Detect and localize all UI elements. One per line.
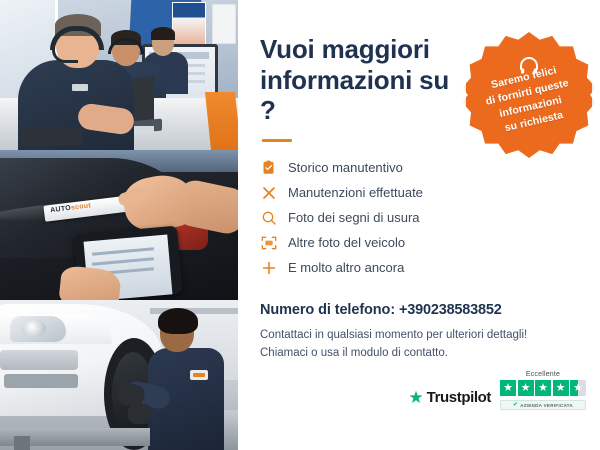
page-title: Vuoi maggiori informazioni su ? — [260, 34, 470, 126]
phone-label: Numero di telefono: — [260, 302, 399, 318]
list-item: Altre foto del veicolo — [260, 230, 580, 255]
phone-number[interactable]: +390238583852 — [399, 302, 502, 318]
content-panel: Vuoi maggiori informazioni su ? Storico … — [238, 0, 600, 450]
trustpilot-widget[interactable]: ★ Trustpilot Eccellente ★ ★ ★ ★ ★ ✔ AZIE… — [408, 371, 586, 410]
star-rating: ★ ★ ★ ★ ★ — [500, 380, 586, 396]
list-item: E molto altro ancora — [260, 255, 580, 280]
photo-wheel-inspection — [0, 300, 238, 450]
rating-label: Eccellente — [526, 371, 560, 378]
trustpilot-brand: Trustpilot — [427, 389, 491, 406]
check-circle-icon: ✔ — [513, 402, 518, 408]
scan-photo-icon — [260, 234, 277, 251]
contact-line-1: Contattaci in qualsiasi momento per ulte… — [260, 327, 580, 345]
contact-description: Contattaci in qualsiasi momento per ulte… — [260, 327, 580, 363]
photo-label-and-tablet: AUTOscout — [0, 150, 238, 300]
feature-list: Storico manutentivo Manutenzioni effettu… — [260, 155, 580, 280]
promo-banner: AUTOscout — [0, 0, 600, 450]
list-item: Storico manutentivo — [260, 155, 580, 180]
trustpilot-logo: ★ Trustpilot — [408, 389, 491, 410]
photo-call-center — [0, 0, 238, 150]
list-item: Manutenzioni effettuate — [260, 180, 580, 205]
phone-line: Numero di telefono: +390238583852 — [260, 302, 580, 318]
list-item-label: Altre foto del veicolo — [288, 235, 405, 250]
verified-label: AZIENDA VERIFICATA — [520, 403, 573, 408]
callout-badge: Saremo felici di fornirti queste informa… — [466, 32, 592, 158]
star-box: ★ — [535, 380, 551, 396]
list-item-label: Manutenzioni effettuate — [288, 185, 423, 200]
photo-column: AUTOscout — [0, 0, 238, 450]
list-item: Foto dei segni di usura — [260, 205, 580, 230]
magnifier-icon — [260, 209, 277, 226]
wrench-cross-icon — [260, 184, 277, 201]
contact-line-2: Chiamaci o usa il modulo di contatto. — [260, 345, 580, 363]
star-box: ★ — [553, 380, 569, 396]
trustpilot-rating: Eccellente ★ ★ ★ ★ ★ ✔ AZIENDA VERIFICAT… — [500, 371, 586, 410]
verified-badge: ✔ AZIENDA VERIFICATA — [500, 400, 586, 410]
star-box: ★ — [500, 380, 516, 396]
star-box: ★ — [518, 380, 534, 396]
list-item-label: Foto dei segni di usura — [288, 210, 420, 225]
title-divider — [262, 139, 292, 142]
trustpilot-star-icon: ★ — [408, 389, 423, 406]
list-item-label: Storico manutentivo — [288, 160, 403, 175]
star-box-half: ★ — [570, 380, 586, 396]
clipboard-check-icon — [260, 159, 277, 176]
plus-icon — [260, 259, 277, 276]
list-item-label: E molto altro ancora — [288, 260, 404, 275]
